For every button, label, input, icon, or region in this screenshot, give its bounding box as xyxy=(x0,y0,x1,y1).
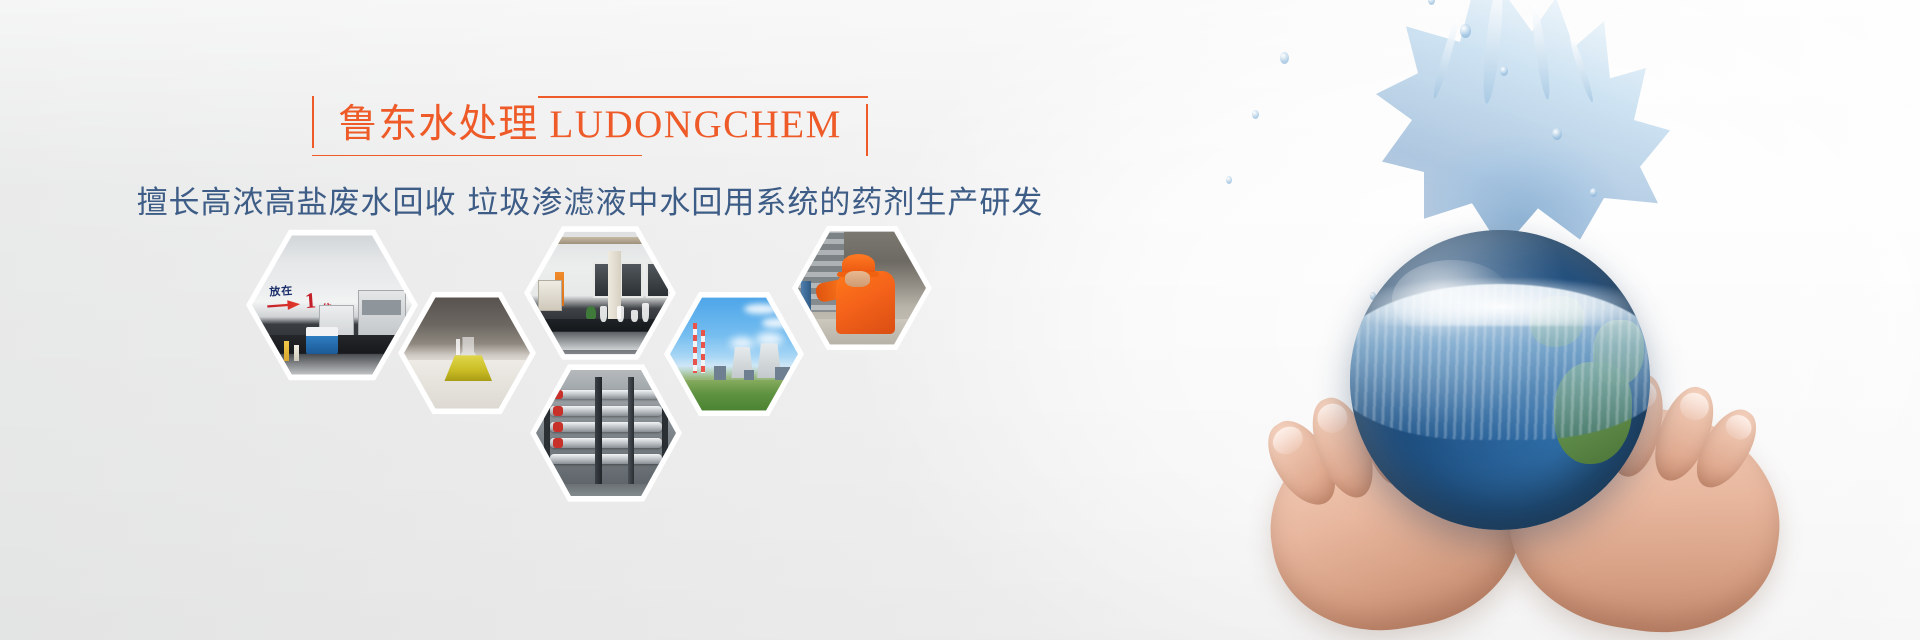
water-droplet xyxy=(1280,52,1289,64)
hex-plant-worker[interactable] xyxy=(792,222,932,354)
promotional-banner: 鲁东水处理 LUDONGCHEM 擅长高浓高盐废水回收 垃圾渗滤液中水回用系统的… xyxy=(0,0,1920,640)
hexagon-photo-cluster: 放在 1 位 xyxy=(0,0,1060,640)
water-droplet xyxy=(1460,24,1471,38)
water-droplet xyxy=(1500,66,1508,76)
hex-laboratory-glassware[interactable] xyxy=(524,222,676,364)
hex-laboratory-room[interactable]: 放在 1 位 xyxy=(246,225,418,385)
hex-yellow-flask[interactable] xyxy=(398,288,536,418)
hex-power-plant[interactable] xyxy=(664,288,804,420)
earth-globe-icon xyxy=(1350,230,1650,530)
water-droplet xyxy=(1252,110,1259,119)
water-globe-in-hands xyxy=(1160,0,1920,640)
slogan-number: 1 xyxy=(304,288,317,315)
water-droplet xyxy=(1590,188,1597,197)
water-droplet xyxy=(1226,176,1232,184)
slogan-text: 放在 xyxy=(269,282,294,300)
arrow-icon xyxy=(266,299,300,313)
water-droplet xyxy=(1552,128,1562,140)
hex-ro-membrane-skid[interactable] xyxy=(530,360,682,506)
